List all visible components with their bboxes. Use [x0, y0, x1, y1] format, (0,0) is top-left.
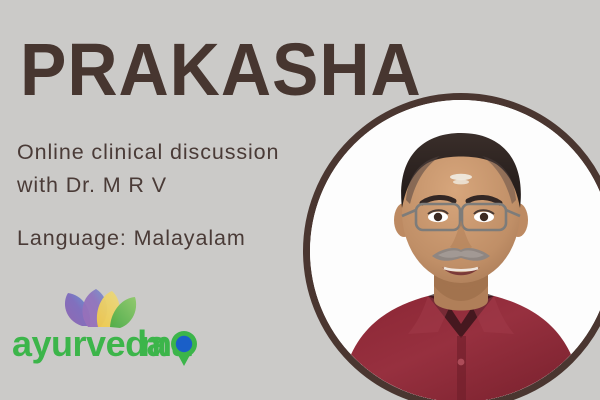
poster-canvas: PRAKASHA Online clinical discussion with… — [0, 0, 600, 400]
avatar — [310, 100, 600, 400]
logo-svg: ayurveda ma — [12, 284, 202, 366]
ayurveda-map-logo: ayurveda ma — [12, 284, 202, 366]
subtitle-block: Online clinical discussion with Dr. M R … — [17, 136, 347, 202]
subtitle-line-1: Online clinical discussion — [17, 136, 347, 169]
subtitle-line-2: with Dr. M R V — [17, 169, 347, 202]
language-label: Language: Malayalam — [17, 224, 246, 252]
portrait-illustration — [310, 100, 600, 400]
portrait-frame — [303, 93, 600, 400]
page-title: PRAKASHA — [20, 33, 422, 107]
